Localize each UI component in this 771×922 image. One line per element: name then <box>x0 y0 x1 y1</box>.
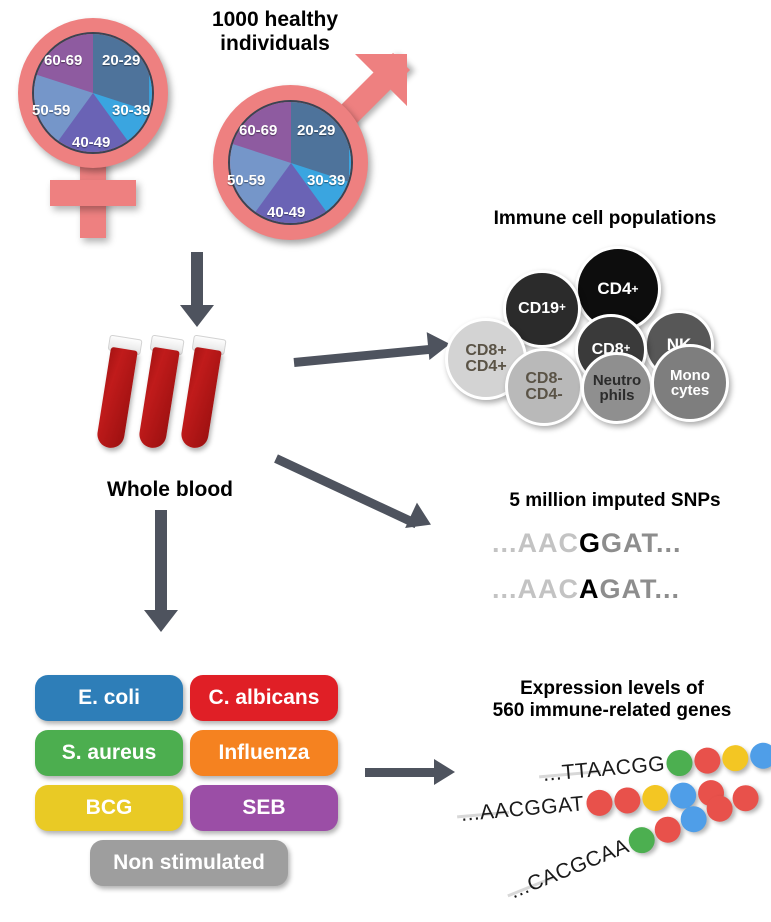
female-pie-label-20-29: 20-29 <box>102 52 140 69</box>
male-pie-label-20-29: 20-29 <box>297 122 335 139</box>
snp-suffix: GAT... <box>601 528 682 558</box>
rna-bead <box>585 789 613 817</box>
snp-prefix: ...AAC <box>492 574 579 604</box>
female-pie-label-60-69: 60-69 <box>44 52 82 69</box>
stimulus-non-stimulated[interactable]: Non stimulated <box>90 840 288 886</box>
rna-bead <box>666 749 694 777</box>
tube-blood <box>137 347 179 450</box>
female-pie-label-30-39: 30-39 <box>112 102 150 119</box>
stimulus-label: Non stimulated <box>113 851 265 875</box>
immune-cell-label: CD8- CD4- <box>508 371 580 404</box>
strand-sequence: ...AACGGAT <box>460 792 585 827</box>
stimulus-seb[interactable]: SEB <box>190 785 338 831</box>
stimulus-label: BCG <box>86 796 133 820</box>
male-pie-label-40-49: 40-49 <box>267 204 305 221</box>
tube-blood <box>95 347 137 450</box>
female-symbol-crossbar <box>50 180 136 206</box>
female-pie-label-50-59: 50-59 <box>32 102 70 119</box>
stimulus-c-albicans[interactable]: C. albicans <box>190 675 338 721</box>
immune-title: Immune cell populations <box>450 208 760 230</box>
immune-cell-label: Mono cytes <box>654 368 726 399</box>
immune-cell-cluster: CD4+ CD19+ NK CD8+ CD8+ CD4+ CD8- CD4- N… <box>445 240 771 430</box>
cohort-title: 1000 healthy individuals <box>175 8 375 56</box>
snp-variant: G <box>579 528 601 558</box>
female-gender-symbol: 60-69 20-29 50-59 30-39 40-49 <box>8 14 188 244</box>
rna-bead <box>722 744 750 772</box>
cohort-title-line1: 1000 healthy <box>175 8 375 32</box>
immune-cell-sup: + <box>631 283 638 295</box>
snp-prefix: ...AAC <box>492 528 579 558</box>
stimulus-influenza[interactable]: Influenza <box>190 730 338 776</box>
female-pie-label-40-49: 40-49 <box>72 134 110 151</box>
stimulus-label: E. coli <box>78 686 140 710</box>
immune-cell-neutrophils: Neutro phils <box>581 352 653 424</box>
stimulus-s-aureus[interactable]: S. aureus <box>35 730 183 776</box>
rna-strand: ...TTAACGG <box>542 739 771 788</box>
snp-row: ...AACGGAT... <box>492 528 682 559</box>
rna-strands: ...TTAACGG ...AACGGAT ...CACGCAA <box>455 740 771 915</box>
rna-bead <box>641 784 669 812</box>
stimulus-label: SEB <box>242 796 285 820</box>
stimulus-label: S. aureus <box>62 741 157 765</box>
immune-cell-label: CD4 <box>597 280 631 297</box>
expression-title-line1: Expression levels of <box>462 678 762 700</box>
strand-sequence: ...TTAACGG <box>542 752 666 787</box>
stimulus-bcg[interactable]: BCG <box>35 785 183 831</box>
immune-cell-monocytes: Mono cytes <box>651 344 729 422</box>
expression-title-line2: 560 immune-related genes <box>462 700 762 722</box>
whole-blood-group <box>105 335 245 475</box>
stimulus-label: C. albicans <box>209 686 320 710</box>
immune-cell-label: CD19 <box>518 301 559 317</box>
male-gender-symbol: 60-69 20-29 50-59 30-39 40-49 <box>205 60 420 250</box>
immune-cell-cd8neg-cd4neg: CD8- CD4- <box>505 348 583 426</box>
rna-bead <box>729 781 763 815</box>
expression-title: Expression levels of 560 immune-related … <box>462 678 762 722</box>
rna-bead <box>694 746 722 774</box>
male-pie-label-50-59: 50-59 <box>227 172 265 189</box>
whole-blood-label: Whole blood <box>60 478 280 502</box>
stimulus-label: Influenza <box>218 741 309 765</box>
rna-bead <box>613 786 641 814</box>
snp-sequences: ...AACGGAT... ...AACAGAT... <box>492 528 752 620</box>
strand-sequence: ...CACGCAA <box>507 835 633 905</box>
male-pie-label-30-39: 30-39 <box>307 172 345 189</box>
snp-variant: A <box>579 574 600 604</box>
snp-suffix: GAT... <box>600 574 681 604</box>
snp-title: 5 million imputed SNPs <box>460 490 770 512</box>
male-pie-label-60-69: 60-69 <box>239 122 277 139</box>
immune-cell-sup: + <box>559 303 566 315</box>
rna-bead <box>750 742 771 770</box>
tube-blood <box>179 347 221 450</box>
stimuli-panel: E. coli C. albicans S. aureus Influenza … <box>30 675 350 900</box>
snp-row: ...AACAGAT... <box>492 574 680 605</box>
immune-cell-label: Neutro phils <box>584 373 650 404</box>
cohort-title-line2: individuals <box>175 32 375 56</box>
stimulus-e-coli[interactable]: E. coli <box>35 675 183 721</box>
